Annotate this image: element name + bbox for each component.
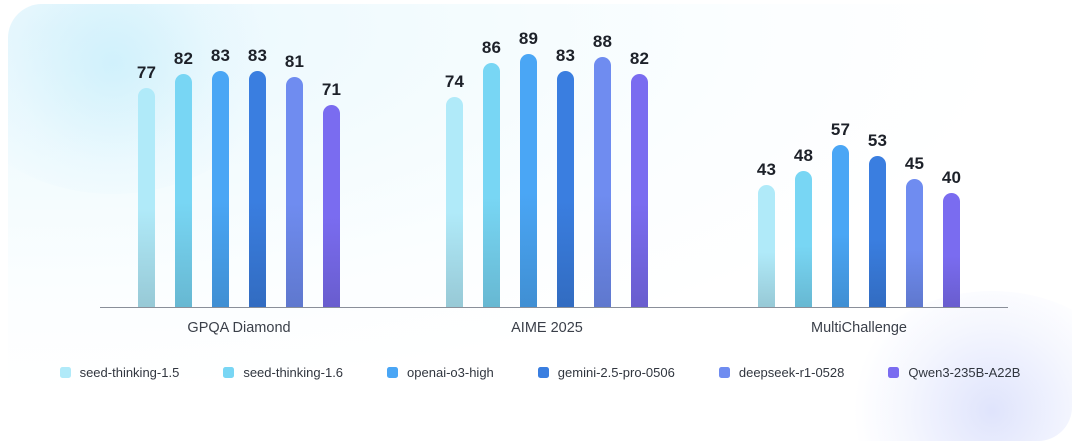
legend-label: gemini-2.5-pro-0506 xyxy=(558,365,675,380)
bar-value-label: 74 xyxy=(445,72,464,92)
bar-value-label: 71 xyxy=(322,80,341,100)
chart-bar[interactable]: 43 xyxy=(758,185,775,307)
bar-slot: 81 xyxy=(276,23,313,307)
bar-slot: 89 xyxy=(510,23,547,307)
bar-value-label: 77 xyxy=(137,63,156,83)
chart-bar[interactable]: 82 xyxy=(175,74,192,307)
bar-slot: 86 xyxy=(473,23,510,307)
category-label: AIME 2025 xyxy=(511,320,583,336)
chart-legend: seed-thinking-1.5seed-thinking-1.6openai… xyxy=(8,365,1072,380)
bar-slot: 83 xyxy=(239,23,276,307)
chart-baseline-axis xyxy=(100,307,1008,308)
bar-value-label: 89 xyxy=(519,29,538,49)
bar-slot: 57 xyxy=(822,23,859,307)
bar-group: 434857534540 xyxy=(748,23,970,307)
category-label: GPQA Diamond xyxy=(187,320,290,336)
legend-swatch-icon xyxy=(888,367,899,378)
bar-value-label: 81 xyxy=(285,52,304,72)
bar-value-label: 82 xyxy=(174,49,193,69)
bar-group: 748689838882 xyxy=(436,23,658,307)
bar-slot: 40 xyxy=(933,23,970,307)
legend-label: seed-thinking-1.6 xyxy=(243,365,343,380)
bar-slot: 53 xyxy=(859,23,896,307)
chart-bar[interactable]: 88 xyxy=(594,57,611,307)
bar-value-label: 83 xyxy=(248,46,267,66)
chart-bar[interactable]: 83 xyxy=(249,71,266,307)
legend-label: deepseek-r1-0528 xyxy=(739,365,845,380)
bar-value-label: 83 xyxy=(556,46,575,66)
bar-value-label: 45 xyxy=(905,154,924,174)
category-label: MultiChallenge xyxy=(811,320,907,336)
bar-value-label: 43 xyxy=(757,160,776,180)
bar-value-label: 82 xyxy=(630,49,649,69)
bar-slot: 82 xyxy=(165,23,202,307)
legend-item-2[interactable]: openai-o3-high xyxy=(387,365,494,380)
chart-bar[interactable]: 86 xyxy=(483,63,500,307)
chart-bar[interactable]: 48 xyxy=(795,171,812,307)
bar-slot: 71 xyxy=(313,23,350,307)
chart-bar[interactable]: 74 xyxy=(446,97,463,307)
bar-slot: 48 xyxy=(785,23,822,307)
bar-value-label: 57 xyxy=(831,120,850,140)
bar-slot: 43 xyxy=(748,23,785,307)
legend-item-0[interactable]: seed-thinking-1.5 xyxy=(60,365,180,380)
chart-bar[interactable]: 83 xyxy=(212,71,229,307)
legend-swatch-icon xyxy=(60,367,71,378)
chart-bar[interactable]: 89 xyxy=(520,54,537,307)
chart-bar[interactable]: 82 xyxy=(631,74,648,307)
bar-value-label: 86 xyxy=(482,38,501,58)
legend-swatch-icon xyxy=(538,367,549,378)
chart-bar[interactable]: 57 xyxy=(832,145,849,307)
chart-bar[interactable]: 71 xyxy=(323,105,340,307)
bar-slot: 82 xyxy=(621,23,658,307)
chart-bar[interactable]: 83 xyxy=(557,71,574,307)
legend-label: openai-o3-high xyxy=(407,365,494,380)
chart-bar[interactable]: 40 xyxy=(943,193,960,307)
legend-swatch-icon xyxy=(719,367,730,378)
bar-value-label: 83 xyxy=(211,46,230,66)
bar-slot: 88 xyxy=(584,23,621,307)
legend-label: seed-thinking-1.5 xyxy=(80,365,180,380)
bar-value-label: 53 xyxy=(868,131,887,151)
legend-item-1[interactable]: seed-thinking-1.6 xyxy=(223,365,343,380)
bar-value-label: 88 xyxy=(593,32,612,52)
chart-bar[interactable]: 81 xyxy=(286,77,303,307)
legend-item-4[interactable]: deepseek-r1-0528 xyxy=(719,365,845,380)
legend-label: Qwen3-235B-A22B xyxy=(908,365,1020,380)
legend-swatch-icon xyxy=(223,367,234,378)
legend-swatch-icon xyxy=(387,367,398,378)
bar-slot: 45 xyxy=(896,23,933,307)
bar-slot: 74 xyxy=(436,23,473,307)
bar-value-label: 48 xyxy=(794,146,813,166)
bar-value-label: 40 xyxy=(942,168,961,188)
chart-bar[interactable]: 45 xyxy=(906,179,923,307)
legend-item-5[interactable]: Qwen3-235B-A22B xyxy=(888,365,1020,380)
chart-card: 778283838171748689838882434857534540 GPQ… xyxy=(8,4,1072,441)
bar-slot: 83 xyxy=(547,23,584,307)
legend-item-3[interactable]: gemini-2.5-pro-0506 xyxy=(538,365,675,380)
chart-bar[interactable]: 77 xyxy=(138,88,155,307)
chart-bar[interactable]: 53 xyxy=(869,156,886,307)
bar-group: 778283838171 xyxy=(128,23,350,307)
bar-slot: 83 xyxy=(202,23,239,307)
bar-slot: 77 xyxy=(128,23,165,307)
